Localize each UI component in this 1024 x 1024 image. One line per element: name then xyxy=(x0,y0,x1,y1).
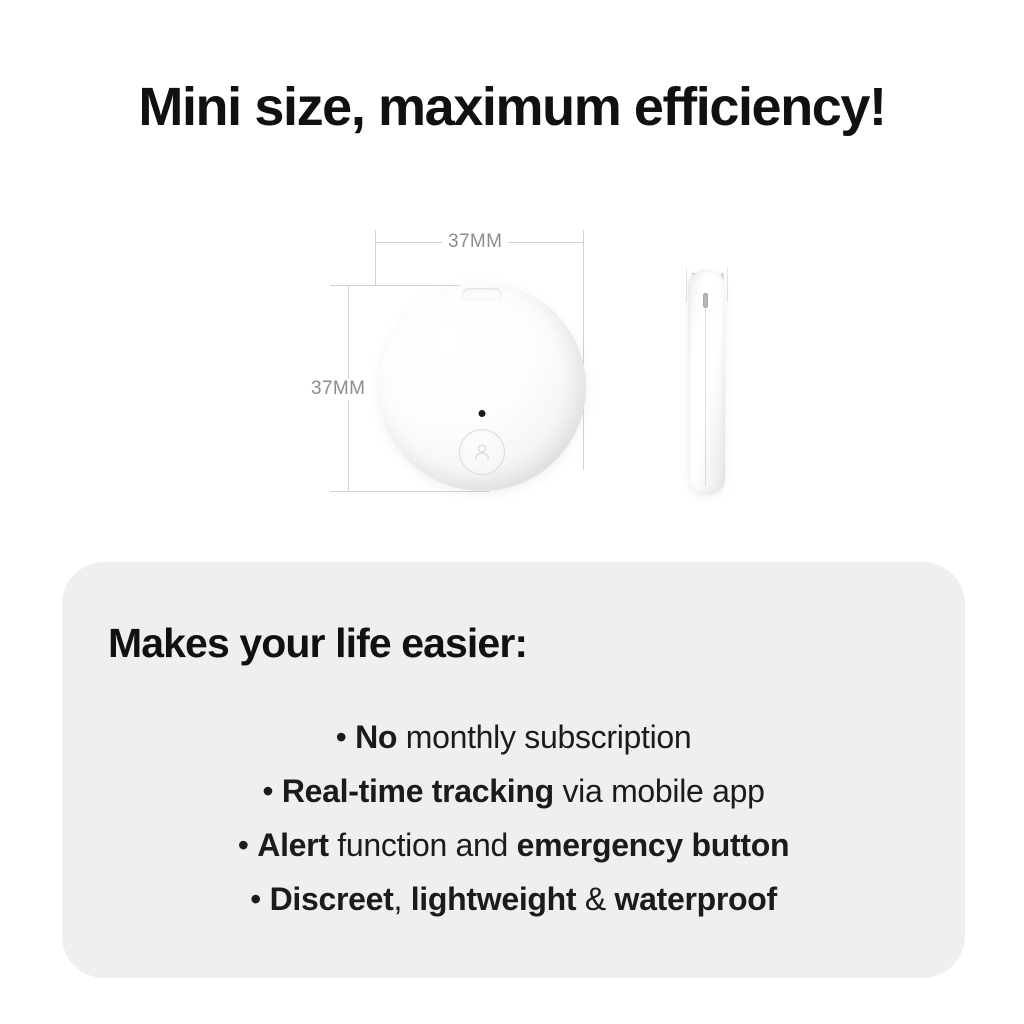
bullet-marker: • xyxy=(336,719,356,755)
tracker-side-seam xyxy=(705,294,706,486)
person-icon xyxy=(471,441,493,463)
bullet-marker: • xyxy=(238,827,258,863)
benefits-list-item: • Discreet, lightweight & waterproof xyxy=(62,872,965,926)
benefits-card: Makes your life easier: • No monthly sub… xyxy=(62,562,965,978)
bullet-emphasis: No xyxy=(355,719,397,755)
round-tracker-side-view: 5MM xyxy=(686,268,728,498)
bullet-emphasis: Alert xyxy=(257,827,328,863)
product-dimension-diagram: 37MM 37MM 5MM xyxy=(0,200,1024,530)
round-tracker-front-view xyxy=(378,283,586,491)
benefits-card-heading: Makes your life easier: xyxy=(108,620,527,667)
keyring-slot-side-icon xyxy=(703,293,708,308)
page-title: Mini size, maximum efficiency! xyxy=(0,78,1024,137)
dim-extension-left xyxy=(375,248,376,286)
bullet-marker: • xyxy=(262,773,282,809)
bullet-marker: • xyxy=(250,881,270,917)
person-button[interactable] xyxy=(459,429,505,475)
bullet-text: function and xyxy=(329,827,517,863)
benefits-list-item: • Alert function and emergency button xyxy=(62,818,965,872)
benefits-list-item: • No monthly subscription xyxy=(62,710,965,764)
bullet-text: monthly subscription xyxy=(397,719,691,755)
dim-tick-top-left xyxy=(375,230,376,248)
bullet-emphasis: emergency button xyxy=(517,827,790,863)
keyring-slot-icon xyxy=(462,288,502,301)
bullet-text: via mobile app xyxy=(554,773,765,809)
bullet-text: & xyxy=(576,881,614,917)
bullet-emphasis: Discreet xyxy=(270,881,394,917)
dim-extension-bottom xyxy=(330,491,490,492)
led-dot-icon xyxy=(479,410,486,417)
dim-label-width: 37MM xyxy=(442,231,508,253)
benefits-list: • No monthly subscription• Real-time tra… xyxy=(62,710,965,926)
bullet-emphasis: Real-time tracking xyxy=(282,773,554,809)
dim-tick-top-right xyxy=(583,230,584,248)
bullet-emphasis: waterproof xyxy=(615,881,777,917)
bullet-emphasis: lightweight xyxy=(402,881,576,917)
bullet-text: , xyxy=(394,881,403,917)
benefits-list-item: • Real-time tracking via mobile app xyxy=(62,764,965,818)
dim-label-height: 37MM xyxy=(305,378,371,400)
